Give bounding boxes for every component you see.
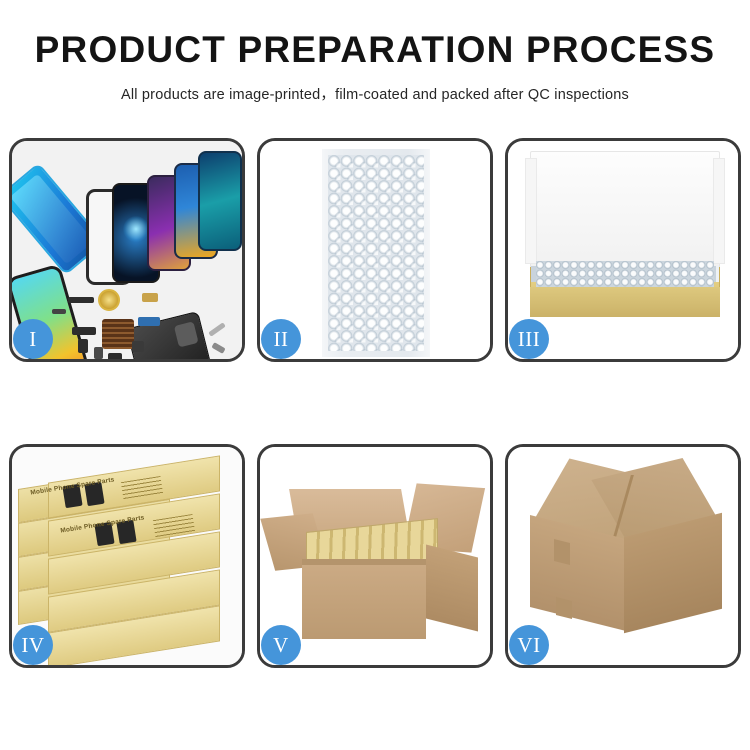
screw-mat-part xyxy=(102,319,134,349)
small-component-part xyxy=(94,347,103,359)
phone-teal-display xyxy=(198,151,242,251)
tweezers-tool xyxy=(208,322,226,336)
step-panel-3: III xyxy=(505,138,741,362)
step-panel-4: Mobile Phone Spare Parts Mobile Phone Sp… xyxy=(9,444,245,668)
step-badge-3: III xyxy=(509,319,549,359)
step-panel-1: I xyxy=(9,138,245,362)
step-badge-5: V xyxy=(261,625,301,665)
flex-cable-part xyxy=(72,327,96,335)
white-box-lid xyxy=(530,151,720,269)
blue-flex-part xyxy=(138,317,160,326)
product-preparation-infographic: PRODUCT PREPARATION PROCESS All products… xyxy=(0,0,750,750)
step-badge-6: VI xyxy=(509,625,549,665)
step-badge-1: I xyxy=(13,319,53,359)
step-badge-4: IV xyxy=(13,625,53,665)
step-panel-5: V xyxy=(257,444,493,668)
flex-cable-part xyxy=(68,297,94,303)
carton-side-face xyxy=(426,545,478,632)
sealed-carton-tab xyxy=(556,597,572,619)
kraft-box-front xyxy=(530,287,720,317)
page-title: PRODUCT PREPARATION PROCESS xyxy=(0,30,750,71)
page-subtitle: All products are image-printed，film-coat… xyxy=(0,83,750,104)
step-badge-2: II xyxy=(261,319,301,359)
bubble-wrap-texture xyxy=(328,155,424,351)
gold-connector-part xyxy=(142,293,158,302)
speaker-part xyxy=(108,353,122,359)
header: PRODUCT PREPARATION PROCESS All products… xyxy=(0,0,750,104)
step-panel-6: VI xyxy=(505,444,741,668)
process-steps-grid: I II III xyxy=(9,138,741,668)
step-panel-2: II xyxy=(257,138,493,362)
screwdriver-tool xyxy=(211,342,225,354)
retail-box-stack: Mobile Phone Spare Parts Mobile Phone Sp… xyxy=(18,469,234,655)
sealed-carton-tab xyxy=(554,539,570,565)
small-component-part xyxy=(78,339,88,353)
bubble-wrapped-contents xyxy=(536,261,714,287)
bubble-wrap-pouch xyxy=(322,149,430,357)
battery-connector-part xyxy=(52,309,66,314)
copper-coil-part xyxy=(98,289,120,311)
camera-module-part xyxy=(132,341,144,352)
carton-front-face xyxy=(302,565,426,639)
